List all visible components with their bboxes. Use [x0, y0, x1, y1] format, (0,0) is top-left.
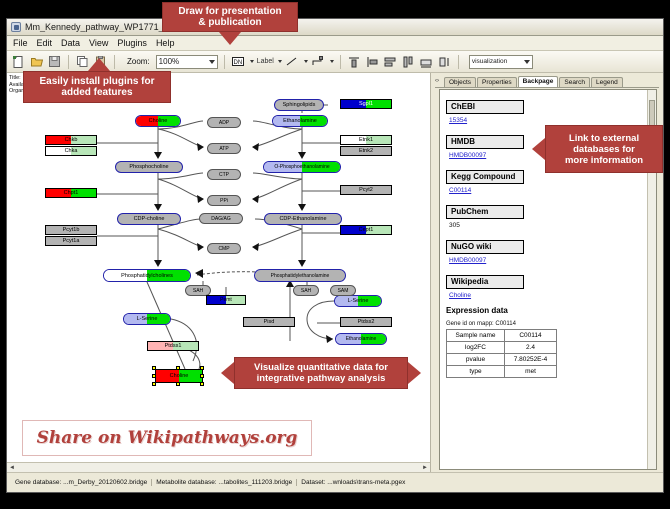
align-top-icon[interactable] — [347, 54, 362, 70]
node-label: Pisd — [264, 319, 275, 325]
node-label: Pcyt1b — [63, 227, 80, 233]
metabolite-node[interactable]: Phosphatidylethanolamine — [254, 269, 346, 282]
gene-node[interactable]: Chkb — [45, 135, 97, 145]
node-label: CDP-choline — [134, 216, 165, 222]
cofactor-node[interactable]: CMP — [207, 243, 241, 254]
node-label: L-Serine — [137, 316, 158, 322]
node-label: Sgpl1 — [359, 101, 373, 107]
callout-visualize-arrow-tip-right — [408, 362, 421, 384]
distribute-horizontal-icon[interactable] — [401, 54, 416, 70]
database-link[interactable]: C00114 — [449, 187, 644, 194]
tab-properties[interactable]: Properties — [477, 77, 517, 87]
node-label: DAG/AG — [211, 216, 230, 222]
menu-bar: File Edit Data View Plugins Help — [7, 36, 663, 51]
align-left-icon[interactable] — [365, 54, 380, 70]
node-label: Phosphocholine — [129, 164, 168, 170]
table-cell-key: pvalue — [447, 354, 505, 366]
zoom-label: Zoom: — [127, 57, 150, 66]
node-label: L-Serine — [348, 298, 369, 304]
database-title: Kegg Compound — [446, 170, 524, 184]
table-row: log2FC 2.4 — [447, 342, 557, 354]
callout-line-2: & publication — [198, 17, 261, 28]
table-row: pvalue 7.80252E-4 — [447, 354, 557, 366]
chevron-down-icon[interactable] — [304, 60, 308, 63]
table-row: type met — [447, 366, 557, 378]
tab-scroll-arrows[interactable]: ‹› — [435, 78, 439, 84]
database-title: PubChem — [446, 205, 524, 219]
chevron-down-icon[interactable] — [524, 60, 530, 64]
menu-item-data[interactable]: Data — [61, 38, 80, 48]
gene-node[interactable]: Pcyt1a — [45, 236, 97, 246]
callout-line-1: Draw for presentation — [178, 6, 281, 17]
database-link[interactable]: 15354 — [449, 117, 644, 124]
node-label: Phosphatidylethanolamine — [271, 273, 330, 279]
status-dataset: Dataset: ...wnloads\trans-meta.pgex — [296, 479, 409, 486]
node-label: SAH — [301, 288, 311, 294]
node-label: CMP — [218, 246, 229, 252]
database-value: 305 — [449, 222, 644, 229]
cofactor-node[interactable]: ADP — [207, 117, 241, 128]
database-link[interactable]: HMDB00097 — [449, 257, 644, 264]
node-label: Chkb — [65, 137, 78, 143]
gene-node[interactable]: Etnk2 — [340, 146, 392, 156]
metabolite-node[interactable]: L-Serine — [334, 295, 382, 307]
node-label: Choline — [149, 118, 168, 124]
cofactor-node[interactable]: DAG/AG — [199, 213, 243, 224]
callout-line-2: added features — [61, 87, 132, 98]
scroll-right-arrow[interactable]: ► — [422, 465, 428, 471]
save-icon[interactable] — [47, 54, 62, 70]
table-cell-key: log2FC — [447, 342, 505, 354]
selection-handle[interactable] — [152, 374, 156, 378]
selection-handle[interactable] — [152, 382, 156, 386]
common-width-icon[interactable] — [419, 54, 434, 70]
node-label: Pcyt2 — [359, 187, 373, 193]
callout-line-2: integrative pathway analysis — [257, 373, 386, 384]
table-cell-value: 2.4 — [505, 342, 557, 354]
callout-visualize-data: Visualize quantitative data for integrat… — [234, 357, 408, 389]
table-row: Sample name C00114 — [447, 330, 557, 342]
node-label: ADP — [219, 120, 229, 126]
selection-handle[interactable] — [200, 382, 204, 386]
node-label: Phosphatidylcholines — [121, 273, 173, 279]
zoom-input[interactable]: 100% — [156, 55, 218, 69]
expression-data-heading: Expression data — [446, 306, 644, 315]
node-label: Sphingolipids — [283, 102, 316, 108]
open-folder-icon[interactable] — [29, 54, 44, 70]
label-tool-label[interactable]: Label — [257, 58, 274, 65]
table-cell-key: type — [447, 366, 505, 378]
gene-node[interactable]: Chpt1 — [45, 188, 97, 198]
menu-item-plugins[interactable]: Plugins — [117, 38, 147, 48]
backpage-section-chebi: ChEBI 15354 — [446, 96, 644, 124]
selection-handle[interactable] — [152, 366, 156, 370]
callout-install-plugins: Easily install plugins for added feature… — [23, 71, 171, 103]
data-node-icon[interactable]: DN — [231, 54, 246, 70]
metabolite-node-selected[interactable]: Choline — [155, 369, 203, 383]
selection-handle[interactable] — [176, 382, 180, 386]
toolbar-separator — [458, 55, 459, 69]
cofactor-node[interactable]: CTP — [207, 169, 241, 180]
database-title: ChEBI — [446, 100, 524, 114]
toolbar-separator — [224, 55, 225, 69]
cofactor-node[interactable]: SAM — [330, 285, 356, 296]
gene-node[interactable]: Chka — [45, 146, 97, 156]
status-bar: Gene database: ...m_Derby_20120602.bridg… — [7, 472, 663, 492]
gene-node[interactable]: Pcyt2 — [340, 185, 392, 195]
gene-node[interactable]: Sgpl1 — [340, 99, 392, 109]
gene-node[interactable]: Etnk1 — [340, 135, 392, 145]
gene-node[interactable]: Pcyt1b — [45, 225, 97, 235]
callout-line-3: more information — [565, 155, 643, 166]
node-label: Pemt — [220, 297, 232, 303]
zoom-value: 100% — [159, 57, 179, 66]
gene-id-line: Gene id on mapp: C00114 — [446, 321, 644, 327]
callout-draw-for-publication: Draw for presentation & publication — [162, 2, 298, 32]
callout-draw-arrow-tip — [219, 32, 241, 45]
expression-table: Sample name C00114 log2FC 2.4 pvalue 7.8… — [446, 329, 557, 378]
node-label: PPi — [220, 198, 228, 204]
chevron-down-icon[interactable] — [330, 60, 334, 63]
tab-search[interactable]: Search — [559, 77, 590, 87]
chevron-down-icon[interactable] — [278, 60, 282, 63]
callout-line-1: Visualize quantitative data for — [254, 362, 388, 373]
toolbar-separator — [68, 55, 69, 69]
table-cell-value: met — [505, 366, 557, 378]
node-label: CTP — [219, 172, 229, 178]
cofactor-node[interactable]: PPi — [207, 195, 241, 206]
chevron-down-icon[interactable] — [209, 60, 215, 64]
tab-backpage[interactable]: Backpage — [518, 76, 559, 87]
selection-handle[interactable] — [200, 366, 204, 370]
title-bar: Mm_Kennedy_pathway_WP1771_45176.gpml — [7, 19, 663, 36]
svg-text:DN: DN — [234, 60, 243, 66]
node-label: Chpt1 — [64, 190, 79, 196]
node-label: Pcyt1a — [63, 238, 80, 244]
tab-objects[interactable]: Objects — [444, 77, 476, 87]
callout-plugins-arrow-tip — [88, 58, 110, 71]
pathway-edges — [7, 73, 431, 472]
metabolite-node[interactable]: O-Phosphoethanolamine — [263, 161, 341, 173]
node-label: ATP — [219, 146, 228, 152]
node-label: SAM — [338, 288, 349, 294]
node-label: Ptdss1 — [165, 343, 182, 349]
metabolite-node[interactable]: CDP-Ethanolamine — [264, 213, 342, 225]
menu-item-file[interactable]: File — [13, 38, 28, 48]
backpage-section-pubchem: PubChem 305 — [446, 201, 644, 229]
toolbar-separator — [114, 55, 115, 69]
node-label: Ptdss2 — [358, 319, 375, 325]
gene-node[interactable]: Pemt — [206, 295, 246, 305]
visualization-value: visualization — [472, 58, 507, 65]
pathway-canvas[interactable]: Title: Availa Organi — [7, 73, 431, 472]
metabolite-node[interactable]: Sphingolipids — [274, 99, 324, 111]
node-label: Choline — [170, 373, 189, 379]
metabolite-node[interactable]: Phosphocholine — [115, 161, 183, 173]
callout-line-1: Link to external — [569, 133, 639, 144]
node-label: O-Phosphoethanolamine — [274, 164, 329, 170]
gene-node[interactable]: Cept1 — [340, 225, 392, 235]
tab-legend[interactable]: Legend — [591, 77, 623, 87]
callout-visualize-arrow-tip-left — [221, 362, 234, 384]
selection-handle[interactable] — [176, 366, 180, 370]
callout-line-2: databases for — [573, 144, 635, 155]
database-title: Wikipedia — [446, 275, 524, 289]
scroll-left-arrow[interactable]: ◄ — [9, 465, 15, 471]
menu-item-view[interactable]: View — [89, 38, 108, 48]
metabolite-node[interactable]: CDP-choline — [117, 213, 181, 225]
cofactor-node[interactable]: SAH — [293, 285, 319, 296]
callout-external-links: Link to external databases for more info… — [545, 125, 663, 173]
backpage-section-nugo: NuGO wiki HMDB00097 — [446, 236, 644, 264]
node-label: Etnk1 — [359, 137, 373, 143]
metabolite-node[interactable]: Choline — [135, 115, 181, 127]
cofactor-node[interactable]: ATP — [207, 143, 241, 154]
share-banner: Share on Wikipathways.org — [22, 420, 312, 456]
gene-node[interactable]: Pisd — [243, 317, 295, 327]
metabolite-node[interactable]: Phosphatidylcholines — [103, 269, 191, 282]
database-title: HMDB — [446, 135, 524, 149]
database-link[interactable]: Choline — [449, 292, 644, 299]
database-title: NuGO wiki — [446, 240, 524, 254]
line-icon[interactable] — [285, 54, 300, 70]
status-gene-database: Gene database: ...m_Derby_20120602.bridg… — [11, 479, 151, 486]
selection-handle[interactable] — [200, 374, 204, 378]
node-label: SAH — [193, 288, 203, 294]
metabolite-node[interactable]: L-Serine — [123, 313, 171, 325]
node-label: Cept1 — [359, 227, 374, 233]
table-cell-value: 7.80252E-4 — [505, 354, 557, 366]
metabolite-node[interactable]: Ethanolamine — [335, 333, 387, 345]
node-label: Ethanolamine — [283, 118, 317, 124]
node-label: Etnk2 — [359, 148, 373, 154]
gene-node[interactable]: Ptdss2 — [340, 317, 392, 327]
status-metabolite-database: Metabolite database: ...tabolites_111203… — [151, 479, 296, 486]
node-label: Chka — [65, 148, 78, 154]
connector-icon[interactable] — [311, 54, 326, 70]
menu-item-edit[interactable]: Edit — [37, 38, 53, 48]
canvas-horizontal-scrollbar[interactable]: ◄ ► — [7, 462, 430, 472]
gene-node[interactable]: Ptdss1 — [147, 341, 199, 351]
pathvisio-icon — [11, 22, 21, 32]
metabolite-node[interactable]: Ethanolamine — [272, 115, 328, 127]
visualization-select[interactable]: visualization — [469, 55, 533, 69]
toolbar-separator — [340, 55, 341, 69]
callout-links-arrow-tip — [532, 138, 545, 160]
table-cell-value: C00114 — [505, 330, 557, 342]
new-file-icon[interactable] — [11, 54, 26, 70]
common-height-icon[interactable] — [437, 54, 452, 70]
table-cell-key: Sample name — [447, 330, 505, 342]
side-panel-tabs: ‹› Objects Properties Backpage Search Le… — [435, 75, 659, 88]
callout-line-1: Easily install plugins for — [39, 76, 154, 87]
chevron-down-icon[interactable] — [250, 60, 254, 63]
backpage-section-wikipedia: Wikipedia Choline — [446, 271, 644, 299]
node-label: CDP-Ethanolamine — [279, 216, 326, 222]
distribute-vertical-icon[interactable] — [383, 54, 398, 70]
share-banner-text: Share on Wikipathways.org — [37, 428, 298, 448]
menu-item-help[interactable]: Help — [156, 38, 175, 48]
node-label: Ethanolamine — [346, 336, 377, 342]
